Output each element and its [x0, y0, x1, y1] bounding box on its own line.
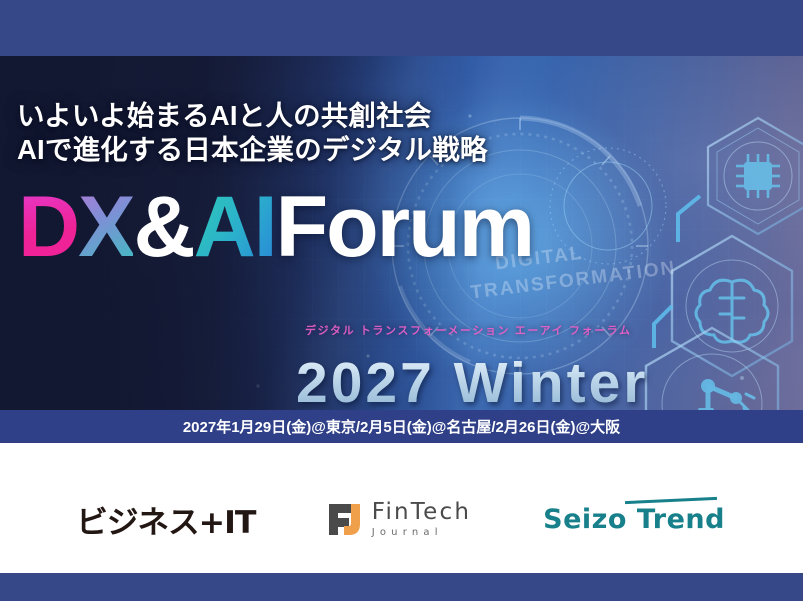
logo-word-forum: Forum [276, 184, 534, 270]
headline: いよいよ始まるAIと人の共創社会 AIで進化する日本企業のデジタル戦略 [17, 99, 488, 167]
bottom-color-band [0, 573, 803, 601]
logo-letter-x: X [78, 184, 133, 270]
logo-seizo-trend[interactable]: Seizo Trend [543, 504, 725, 535]
fintech-journal-subtitle: Journal [372, 528, 471, 538]
logo-letter-d: D [18, 184, 78, 270]
fintech-journal-wordmark: FinTech Journal [372, 501, 471, 538]
logo-ampersand: & [133, 184, 193, 270]
event-date-bar: 2027年1月29日(金)@東京/2月5日(金)@名古屋/2月26日(金)@大阪 [0, 410, 803, 443]
logo-letters-ai: AI [194, 184, 276, 270]
event-logo-lockup: DX&AIForum [18, 184, 533, 270]
hero-banner: DIGITAL TRANSFORMATION いよいよ始まるAIと人の共創社会 … [0, 56, 803, 410]
logo-seizo-trend-text: Seizo Trend [543, 504, 725, 535]
seizo-trend-accent-bar [625, 496, 717, 503]
logo-fintech-journal[interactable]: FinTech Journal [326, 501, 471, 538]
season-label: 2027 Winter [296, 352, 648, 410]
logo-business-it[interactable]: ビジネス+IT [78, 497, 254, 542]
top-color-band [0, 0, 803, 56]
logo-kana-subtitle: デジタル トランスフォーメーション エーアイ フォーラム [305, 322, 632, 338]
media-logo-strip: ビジネス+IT FinTech Journal Seizo Trend [0, 443, 803, 573]
logo-business-it-text: ビジネス+IT [76, 497, 255, 542]
event-dates-text: 2027年1月29日(金)@東京/2月5日(金)@名古屋/2月26日(金)@大阪 [183, 416, 620, 437]
headline-line-1: いよいよ始まるAIと人の共創社会 [17, 99, 488, 133]
headline-line-2: AIで進化する日本企業のデジタル戦略 [17, 133, 488, 167]
fintech-journal-monogram-icon [326, 501, 363, 538]
event-banner-page: DIGITAL TRANSFORMATION いよいよ始まるAIと人の共創社会 … [0, 0, 803, 601]
seizo-trend-label: Seizo Trend [543, 504, 725, 535]
fintech-journal-name: FinTech [372, 499, 471, 525]
